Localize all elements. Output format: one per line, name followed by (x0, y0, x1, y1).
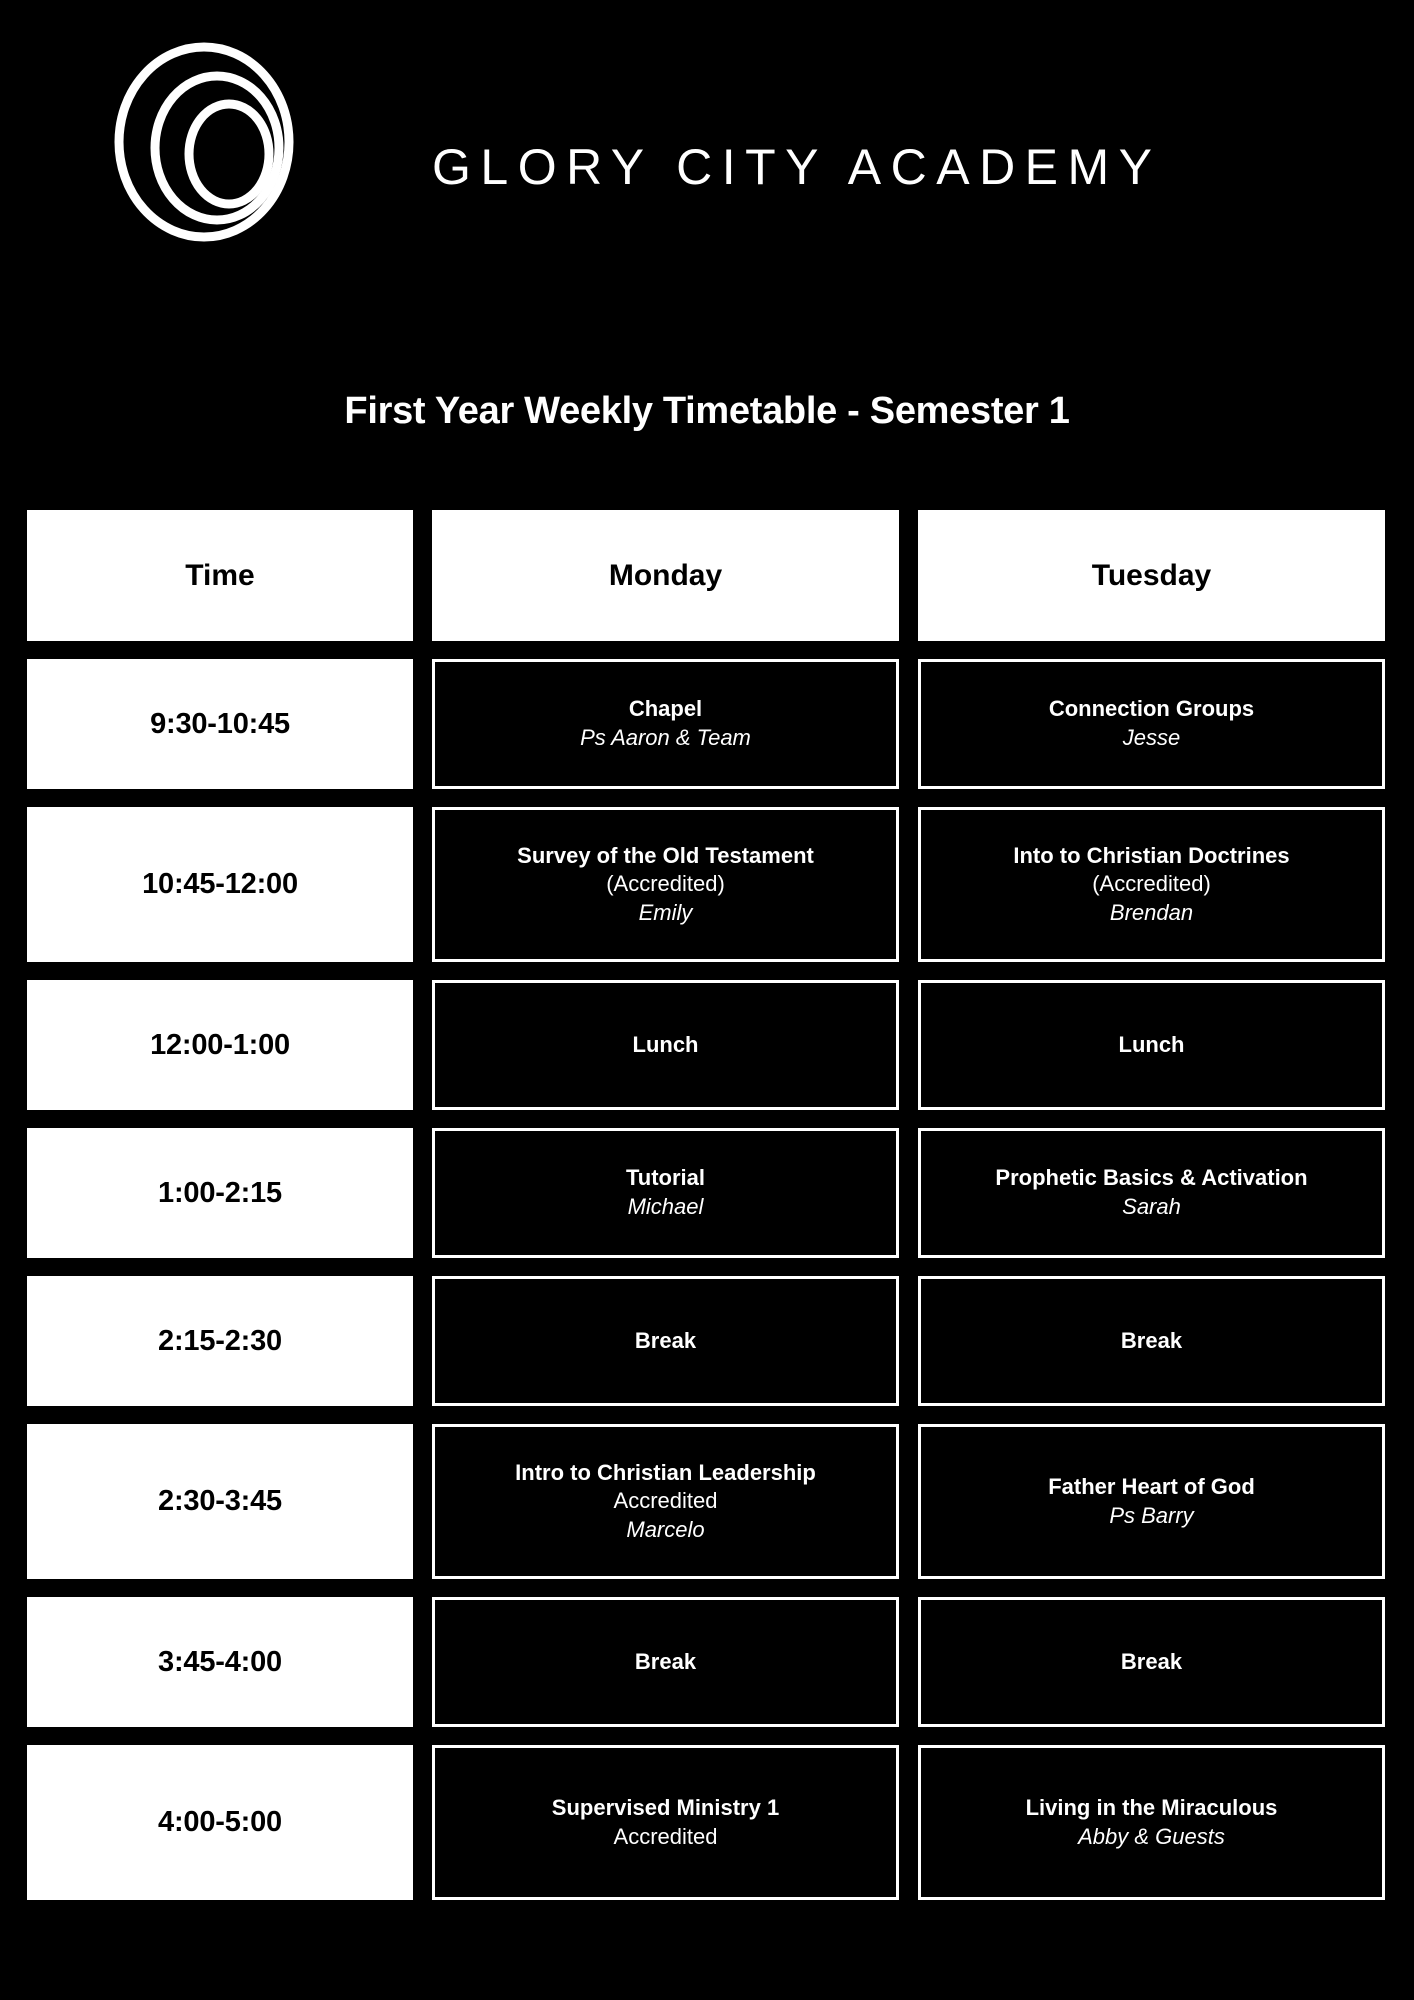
class-title: Break (1121, 1648, 1182, 1677)
time-slot-label: 2:30-3:45 (27, 1424, 413, 1579)
column-header-tuesday: Tuesday (918, 510, 1385, 641)
timetable-row: 2:15-2:30BreakBreak (27, 1276, 1385, 1406)
class-title: Father Heart of God (1048, 1473, 1255, 1502)
class-instructor: Abby & Guests (1078, 1823, 1225, 1852)
class-cell-monday[interactable]: Break (432, 1597, 899, 1727)
column-header-monday: Monday (432, 510, 899, 641)
class-accreditation: Accredited (614, 1487, 718, 1516)
class-cell-tuesday[interactable]: Into to Christian Doctrines(Accredited)B… (918, 807, 1385, 962)
timetable: Time Monday Tuesday 9:30-10:45ChapelPs A… (27, 510, 1385, 1900)
class-instructor: Sarah (1122, 1193, 1181, 1222)
class-instructor: Michael (628, 1193, 704, 1222)
class-title: Chapel (629, 695, 702, 724)
class-instructor: Emily (639, 899, 693, 928)
class-cell-tuesday[interactable]: Connection GroupsJesse (918, 659, 1385, 789)
class-cell-tuesday[interactable]: Prophetic Basics & ActivationSarah (918, 1128, 1385, 1258)
timetable-header-row: Time Monday Tuesday (27, 510, 1385, 641)
class-accreditation: (Accredited) (606, 870, 725, 899)
brand-wordmark: GLORY CITY ACADEMY (432, 142, 1162, 192)
class-cell-monday[interactable]: Survey of the Old Testament(Accredited)E… (432, 807, 899, 962)
class-title: Lunch (633, 1031, 699, 1060)
class-title: Survey of the Old Testament (517, 842, 814, 871)
class-instructor: Ps Aaron & Team (580, 724, 751, 753)
class-cell-monday[interactable]: Supervised Ministry 1Accredited (432, 1745, 899, 1900)
time-slot-label: 10:45-12:00 (27, 807, 413, 962)
timetable-row: 12:00-1:00LunchLunch (27, 980, 1385, 1110)
class-cell-monday[interactable]: Intro to Christian LeadershipAccreditedM… (432, 1424, 899, 1579)
timetable-row: 4:00-5:00Supervised Ministry 1Accredited… (27, 1745, 1385, 1900)
time-slot-label: 1:00-2:15 (27, 1128, 413, 1258)
class-title: Break (635, 1327, 696, 1356)
timetable-row: 2:30-3:45Intro to Christian LeadershipAc… (27, 1424, 1385, 1579)
timetable-row: 9:30-10:45ChapelPs Aaron & TeamConnectio… (27, 659, 1385, 789)
class-title: Break (635, 1648, 696, 1677)
class-cell-tuesday[interactable]: Living in the MiraculousAbby & Guests (918, 1745, 1385, 1900)
timetable-row: 3:45-4:00BreakBreak (27, 1597, 1385, 1727)
class-title: Tutorial (626, 1164, 705, 1193)
class-title: Supervised Ministry 1 (552, 1794, 779, 1823)
page-title: First Year Weekly Timetable - Semester 1 (0, 390, 1414, 433)
class-title: Break (1121, 1327, 1182, 1356)
class-cell-tuesday[interactable]: Father Heart of GodPs Barry (918, 1424, 1385, 1579)
class-title: Connection Groups (1049, 695, 1254, 724)
class-accreditation: (Accredited) (1092, 870, 1211, 899)
class-title: Into to Christian Doctrines (1013, 842, 1289, 871)
class-instructor: Jesse (1123, 724, 1180, 753)
class-cell-monday[interactable]: TutorialMichael (432, 1128, 899, 1258)
column-header-time: Time (27, 510, 413, 641)
time-slot-label: 3:45-4:00 (27, 1597, 413, 1727)
class-cell-monday[interactable]: ChapelPs Aaron & Team (432, 659, 899, 789)
class-cell-tuesday[interactable]: Break (918, 1276, 1385, 1406)
class-cell-monday[interactable]: Break (432, 1276, 899, 1406)
class-title: Lunch (1119, 1031, 1185, 1060)
class-title: Intro to Christian Leadership (515, 1459, 816, 1488)
time-slot-label: 2:15-2:30 (27, 1276, 413, 1406)
timetable-row: 10:45-12:00Survey of the Old Testament(A… (27, 807, 1385, 962)
class-instructor: Marcelo (626, 1516, 704, 1545)
time-slot-label: 12:00-1:00 (27, 980, 413, 1110)
class-title: Prophetic Basics & Activation (995, 1164, 1307, 1193)
time-slot-label: 9:30-10:45 (27, 659, 413, 789)
class-instructor: Ps Barry (1109, 1502, 1193, 1531)
timetable-row: 1:00-2:15TutorialMichaelProphetic Basics… (27, 1128, 1385, 1258)
class-instructor: Brendan (1110, 899, 1193, 928)
class-accreditation: Accredited (614, 1823, 718, 1852)
class-title: Living in the Miraculous (1026, 1794, 1278, 1823)
brand-header: GLORY CITY ACADEMY (0, 0, 1414, 290)
class-cell-tuesday[interactable]: Lunch (918, 980, 1385, 1110)
class-cell-tuesday[interactable]: Break (918, 1597, 1385, 1727)
timetable-body: 9:30-10:45ChapelPs Aaron & TeamConnectio… (27, 659, 1385, 1900)
time-slot-label: 4:00-5:00 (27, 1745, 413, 1900)
concentric-rings-logo-icon (112, 42, 302, 242)
class-cell-monday[interactable]: Lunch (432, 980, 899, 1110)
